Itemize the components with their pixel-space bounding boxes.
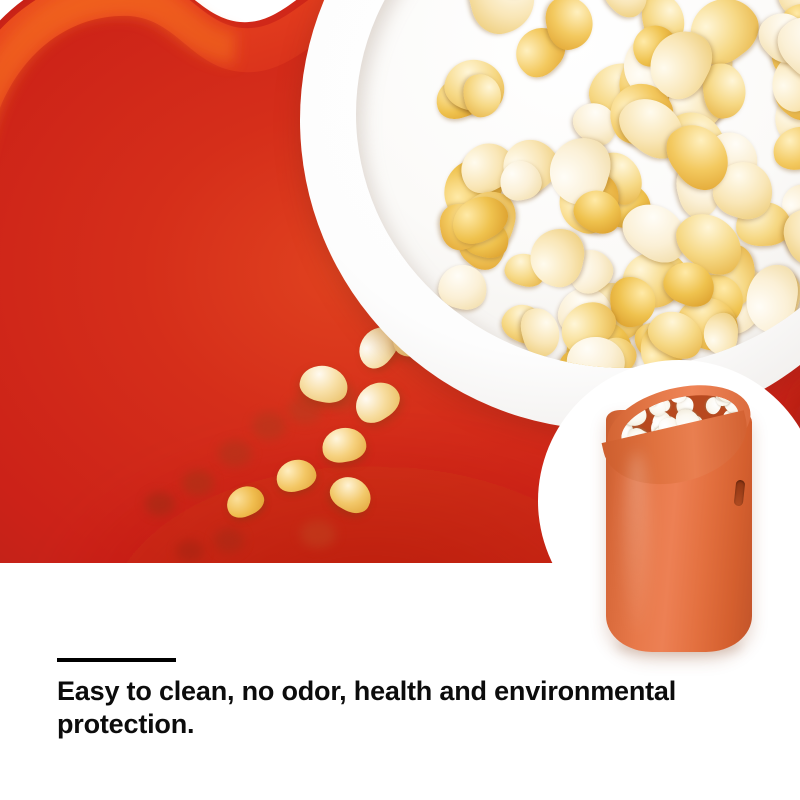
corn-kernel (456, 340, 522, 368)
product-marketing-page: Easy to clean, no odor, health and envir… (0, 0, 800, 800)
orange-silicone-popcorn-cup (598, 382, 758, 657)
corn-kernels-pile (356, 0, 800, 368)
cup-highlight (624, 452, 650, 632)
white-ceramic-bowl (300, 0, 800, 430)
corn-kernel (703, 312, 738, 355)
product-inset-circle (538, 360, 800, 642)
caption-text: Easy to clean, no odor, health and envir… (57, 675, 757, 741)
bowl-interior (356, 0, 800, 368)
accent-rule (57, 658, 176, 662)
corn-kernel (754, 337, 800, 368)
